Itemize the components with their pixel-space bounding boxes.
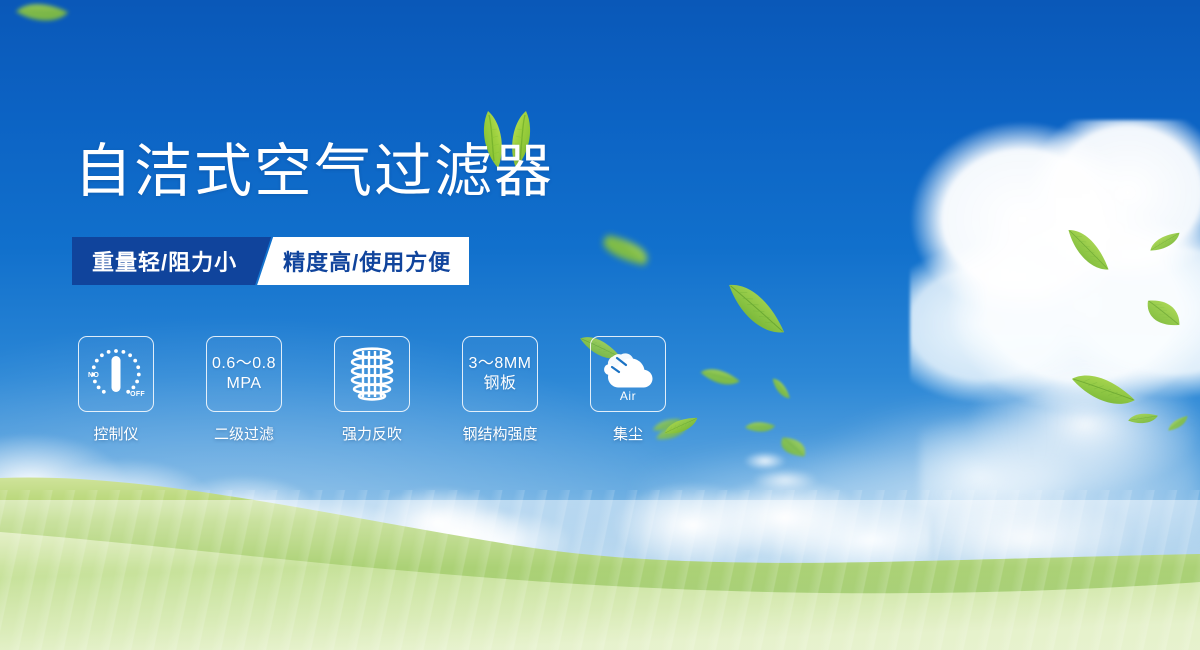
pressure-value-line2: MPA	[227, 374, 262, 394]
feature-icon-box[interactable]: 3～8MM 钢板	[462, 336, 538, 412]
tagline-left: 重量轻/阻力小	[72, 237, 271, 285]
feature-list: NO OFF 控制仪 0.6～0.8 MPA 二级过滤	[78, 336, 666, 444]
floating-leaf	[779, 435, 807, 460]
feature-item-two-stage-filter[interactable]: 0.6～0.8 MPA 二级过滤	[206, 336, 282, 444]
feature-label: 集尘	[613, 423, 643, 444]
feature-icon-box[interactable]: 0.6～0.8 MPA	[206, 336, 282, 412]
feature-icon-box[interactable]: Air	[590, 336, 666, 412]
hill-front	[0, 420, 1200, 650]
promo-banner: 自洁式空气过滤器 重量轻/阻力小 精度高/使用方便	[0, 0, 1200, 650]
filter-cartridge-icon	[344, 345, 400, 403]
meadow-ground	[0, 420, 1200, 650]
feature-item-dust-collection[interactable]: Air 集尘	[590, 336, 666, 444]
feature-label: 强力反吹	[342, 423, 402, 444]
feature-label: 二级过滤	[214, 423, 274, 444]
feature-item-controller[interactable]: NO OFF 控制仪	[78, 336, 154, 444]
tagline-bar: 重量轻/阻力小 精度高/使用方便	[72, 237, 462, 285]
feature-icon-box[interactable]: NO OFF	[78, 336, 154, 412]
feature-label: 控制仪	[93, 423, 138, 444]
cloud-air-icon	[597, 348, 659, 394]
tagline-right: 精度高/使用方便	[257, 237, 469, 285]
air-label: Air	[591, 389, 665, 403]
steel-value-line2: 钢板	[483, 374, 516, 394]
steel-value-line1: 3～8MM	[469, 354, 532, 374]
gauge-label-no: NO	[88, 372, 99, 379]
pressure-value-line1: 0.6～0.8	[212, 354, 276, 374]
page-title: 自洁式空气过滤器	[74, 143, 554, 201]
feature-icon-box[interactable]	[334, 336, 410, 412]
feature-item-steel-strength[interactable]: 3～8MM 钢板 钢结构强度	[462, 336, 538, 444]
feature-label: 钢结构强度	[462, 423, 537, 444]
feature-item-backblow[interactable]: 强力反吹	[334, 336, 410, 444]
gauge-label-off: OFF	[130, 391, 145, 398]
